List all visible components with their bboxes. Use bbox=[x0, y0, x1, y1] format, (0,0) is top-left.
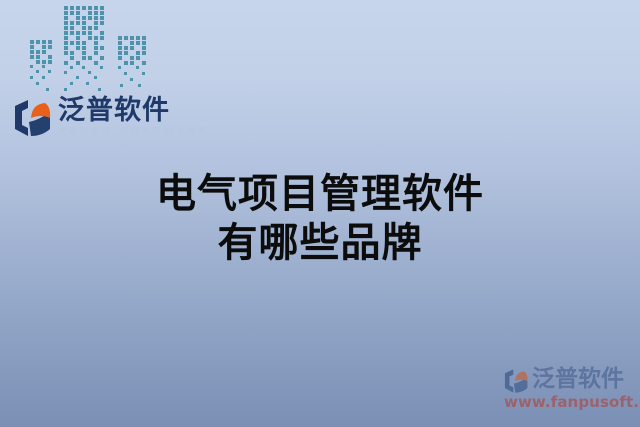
page-title-line-2: 有哪些品牌 bbox=[0, 219, 640, 268]
page-title: 电气项目管理软件 有哪些品牌 bbox=[0, 170, 640, 268]
brand-name-cn: 泛普软件 bbox=[58, 96, 170, 126]
brand-name-en: FANPU SOFTWARE bbox=[60, 126, 209, 138]
page-title-line-1: 电气项目管理软件 bbox=[0, 170, 640, 219]
pixel-city-skyline-graphic bbox=[26, 0, 150, 95]
fanpu-logo-mark-icon bbox=[12, 98, 54, 138]
watermark: 泛普软件 www.fanpusoft.com bbox=[503, 365, 638, 415]
brand-logo: 泛普软件 FANPU SOFTWARE bbox=[12, 96, 177, 146]
watermark-brand-name: 泛普软件 bbox=[532, 365, 624, 393]
watermark-url: www.fanpusoft.com bbox=[504, 393, 640, 411]
fanpu-logo-mark-watermark-icon bbox=[503, 368, 530, 394]
banner-image: 泛普软件 FANPU SOFTWARE 电气项目管理软件 有哪些品牌 泛普软件 … bbox=[0, 0, 640, 427]
